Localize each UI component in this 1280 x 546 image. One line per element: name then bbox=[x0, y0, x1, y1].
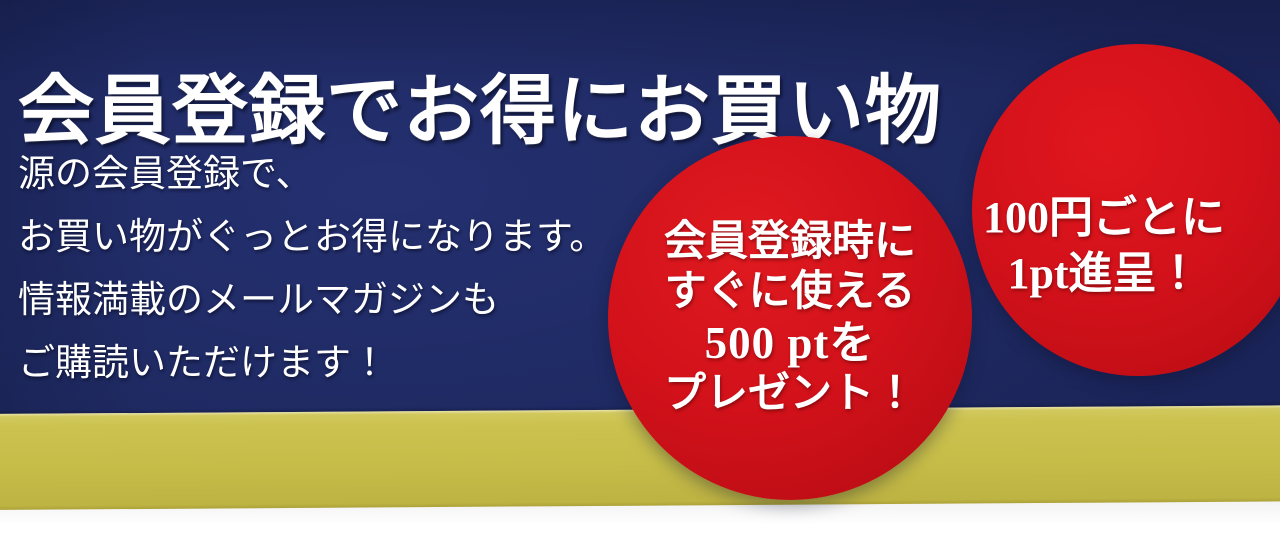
body-copy: 源の会員登録で、 お買い物がぐっとお得になります。 情報満載のメールマガジンも … bbox=[18, 142, 638, 394]
promo-banner: 会員登録でお得にお買い物 源の会員登録で、 お買い物がぐっとお得になります。 情… bbox=[0, 0, 1280, 546]
point-rate-badge-text: 100円ごとに 1pt進呈！ bbox=[983, 190, 1225, 302]
signup-points-line-1: 会員登録時に bbox=[664, 217, 916, 267]
body-line-2: お買い物がぐっとお得になります。 bbox=[18, 205, 638, 268]
signup-points-line-4: プレゼント！ bbox=[664, 369, 916, 419]
signup-points-line-3: 500 ptを bbox=[664, 317, 916, 369]
body-line-3: 情報満載のメールマガジンも bbox=[18, 268, 638, 331]
body-line-1: 源の会員登録で、 bbox=[18, 142, 638, 205]
signup-points-badge: 会員登録時に すぐに使える 500 ptを プレゼント！ bbox=[608, 136, 972, 500]
signup-points-badge-text: 会員登録時に すぐに使える 500 ptを プレゼント！ bbox=[664, 217, 916, 419]
body-line-4: ご購読いただけます！ bbox=[18, 331, 638, 394]
point-rate-line-1: 100円ごとに bbox=[983, 190, 1225, 246]
signup-points-line-2: すぐに使える bbox=[664, 267, 916, 317]
point-rate-line-2: 1pt進呈！ bbox=[983, 246, 1225, 302]
